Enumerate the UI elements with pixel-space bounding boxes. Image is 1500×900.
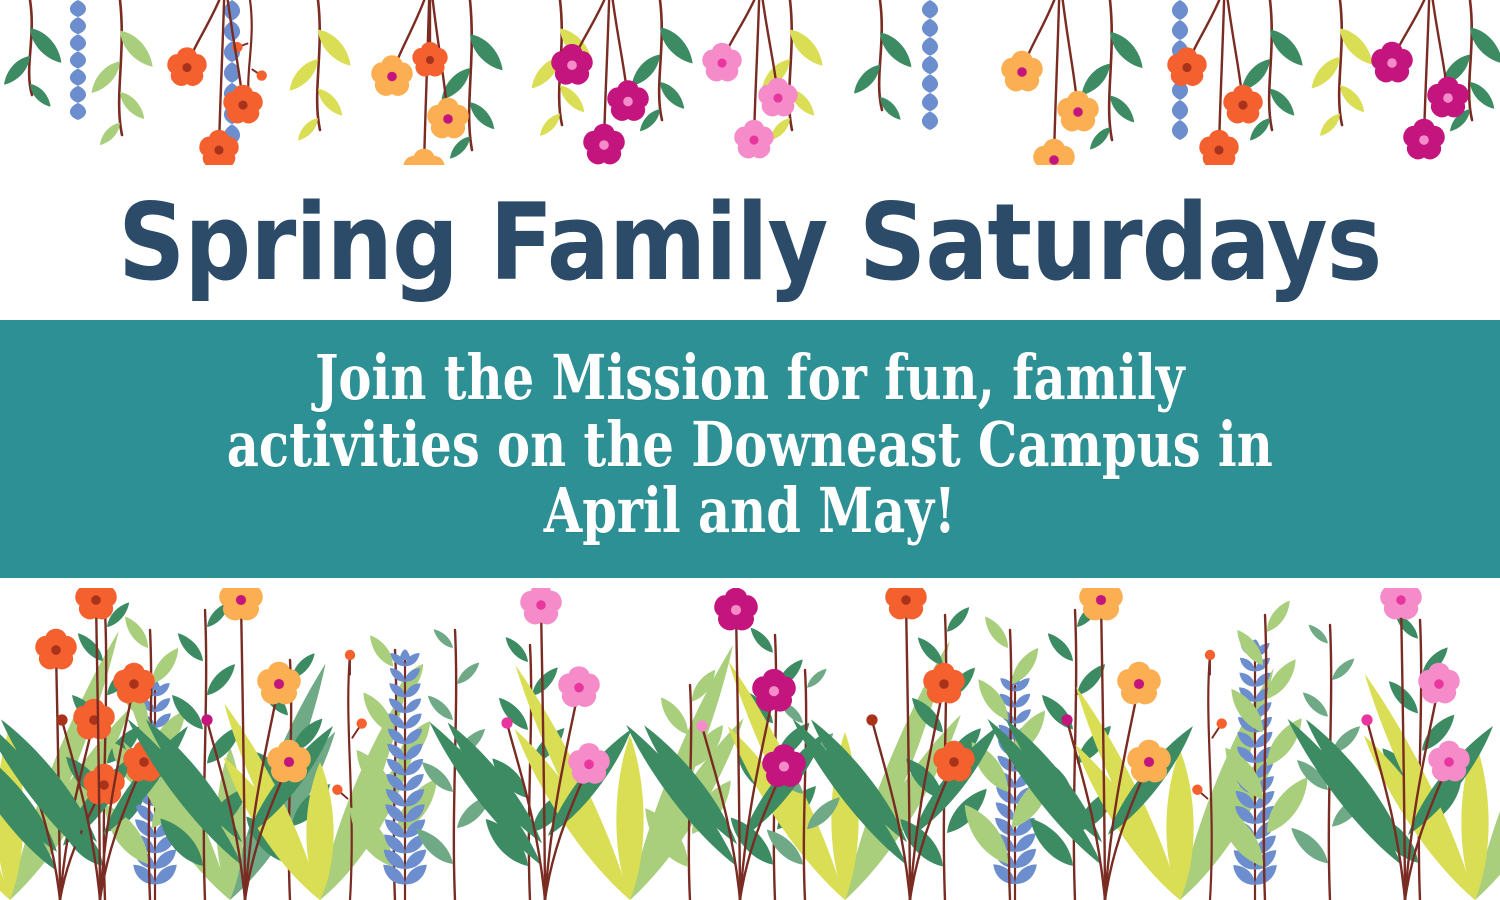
title-block: Spring Family Saturdays [0,168,1500,318]
bottom-floral-illustration [0,588,1500,900]
subtitle-banner: Join the Mission for fun, family activit… [0,320,1500,578]
bottom-floral-border [0,588,1500,900]
poster-canvas: Spring Family Saturdays Join the Mission… [0,0,1500,900]
page-title: Spring Family Saturdays [118,190,1381,296]
top-floral-border [0,0,1500,165]
top-floral-illustration [0,0,1500,165]
banner-text: Join the Mission for fun, family activit… [227,345,1273,546]
